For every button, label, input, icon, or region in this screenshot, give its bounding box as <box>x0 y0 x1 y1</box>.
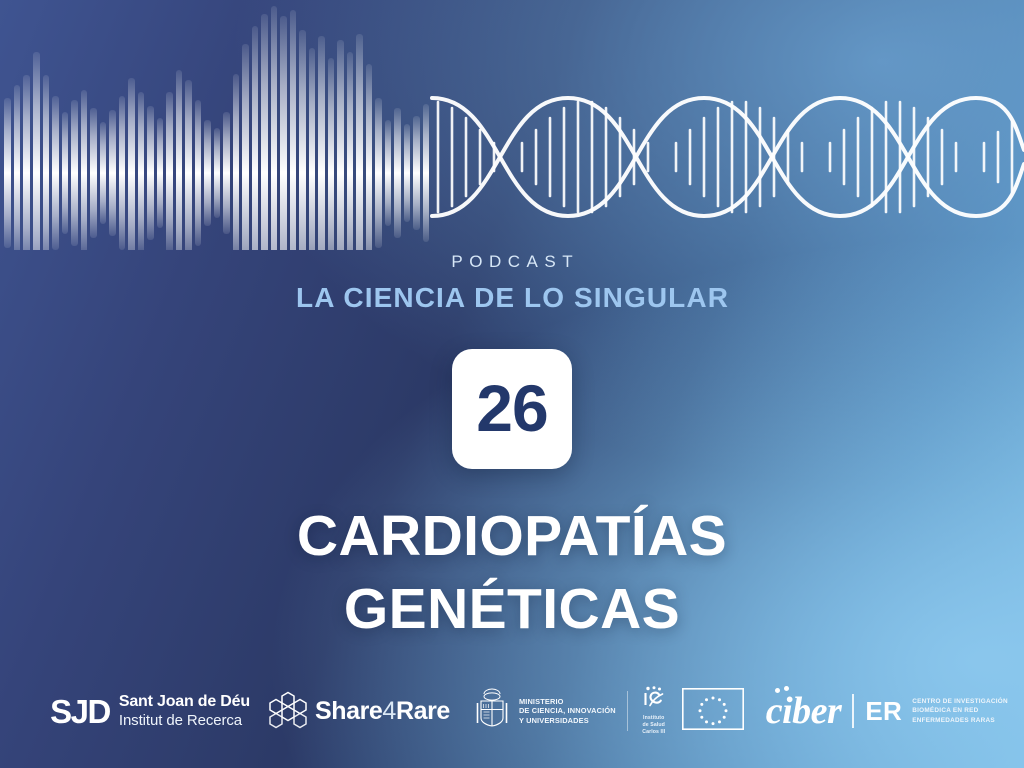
honeycomb-icon <box>268 689 308 734</box>
ciber-umlaut-dot-right <box>784 686 789 691</box>
episode-title-line-2: GENÉTICAS <box>62 573 962 646</box>
episode-title: CARDIOPATÍAS GENÉTICAS <box>62 500 962 646</box>
isciii-line-3: Carlos III <box>642 729 665 736</box>
sponsor-logo-bar: SJD Sant Joan de Déu Institut de Recerca… <box>0 680 1024 742</box>
isciii-line-2: de Salud <box>642 722 665 729</box>
episode-title-line-1: CARDIOPATÍAS <box>62 500 962 573</box>
ciber-line-1: CENTRO DE INVESTIGACIÓN <box>912 697 1008 706</box>
sjd-monogram: SJD <box>50 695 110 728</box>
ciber-line-2: BIOMÉDICA EN RED <box>912 706 1008 715</box>
ciber-divider <box>852 694 854 728</box>
isciii-line-1: Instituto <box>642 715 665 722</box>
header-artwork <box>0 0 1024 250</box>
ciber-line-3: Enfermedades Raras <box>912 716 1008 725</box>
ciber-word-text: ciber <box>766 690 842 732</box>
episode-number-badge: 26 <box>452 349 572 469</box>
ciber-umlaut-dot-left <box>775 688 780 693</box>
share4rare-part-1: Share <box>315 697 382 725</box>
sjd-wordmark: Sant Joan de Déu Institut de Recerca <box>119 693 250 730</box>
logo-sjd: SJD Sant Joan de Déu Institut de Recerca <box>50 693 250 730</box>
share4rare-part-2: 4 <box>382 697 396 725</box>
ciber-er-code: ER <box>865 696 902 727</box>
podcast-kicker: PODCAST <box>0 252 1024 272</box>
sjd-line-2: Institut de Recerca <box>119 712 250 730</box>
ministerio-line-3: Y UNIVERSIDADES <box>519 716 616 725</box>
ciber-descriptor: CENTRO DE INVESTIGACIÓN BIOMÉDICA EN RED… <box>912 697 1008 724</box>
ministerio-line-1: MINISTERIO <box>519 697 616 706</box>
share4rare-wordmark: Share4Rare <box>315 697 450 726</box>
logo-ciber-er: ciber ER CENTRO DE INVESTIGACIÓN BIOMÉDI… <box>766 692 1008 730</box>
logo-european-union <box>682 688 744 735</box>
show-title: LA CIENCIA DE LO SINGULAR <box>0 282 1024 314</box>
isciii-wordmark: Instituto de Salud Carlos III <box>642 715 665 736</box>
ciber-wordmark: ciber <box>766 692 842 730</box>
isciii-mark-icon <box>639 686 669 713</box>
sjd-line-1: Sant Joan de Déu <box>119 693 250 712</box>
spain-coat-of-arms-icon <box>472 687 512 736</box>
logo-ministerio: MINISTERIO DE CIENCIA, INNOVACIÓN Y UNIV… <box>472 687 616 736</box>
ministerio-line-2: DE CIENCIA, INNOVACIÓN <box>519 706 616 715</box>
podcast-cover: PODCAST LA CIENCIA DE LO SINGULAR 26 CAR… <box>0 0 1024 768</box>
audio-waveform-graphic <box>4 6 429 250</box>
logo-isciii: Instituto de Salud Carlos III <box>639 686 669 736</box>
european-union-flag-icon <box>682 688 744 735</box>
logo-divider-1 <box>627 691 628 731</box>
ministerio-wordmark: MINISTERIO DE CIENCIA, INNOVACIÓN Y UNIV… <box>519 697 616 725</box>
episode-number: 26 <box>476 375 547 441</box>
share4rare-part-3: Rare <box>396 697 450 725</box>
dna-double-helix-graphic <box>432 98 1024 216</box>
logo-share4rare: Share4Rare <box>268 689 450 734</box>
